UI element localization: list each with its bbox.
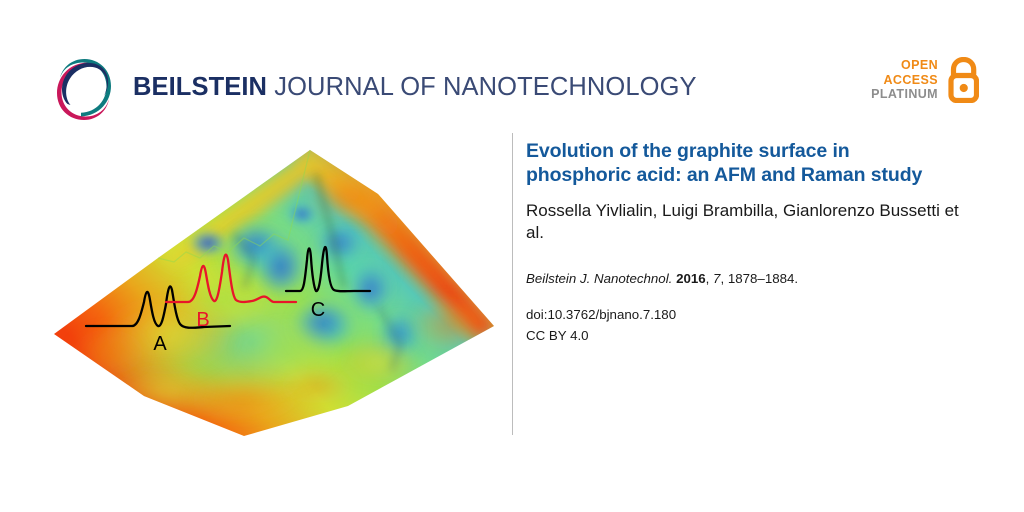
column-divider <box>512 133 513 435</box>
raman-spectrum-c-label: C <box>311 299 325 321</box>
afm-3d-surface-with-raman-spectra: A B C <box>48 138 500 438</box>
beilstein-spiral-logo-icon <box>55 56 117 122</box>
journal-wordmark: BEILSTEIN JOURNAL OF NANOTECHNOLOGY <box>133 75 697 103</box>
citation-year: 2016 <box>676 271 706 286</box>
journal-wordmark-bold: BEILSTEIN <box>133 73 267 101</box>
article-authors: Rossella Yivlialin, Luigi Brambilla, Gia… <box>526 200 960 244</box>
open-access-line-access: ACCESS <box>871 73 938 88</box>
open-access-line-platinum: PLATINUM <box>871 87 938 102</box>
raman-spectrum-b-label: B <box>196 309 209 331</box>
page-header: BEILSTEIN JOURNAL OF NANOTECHNOLOGY OPEN… <box>0 0 1024 132</box>
raman-spectrum-a-label: A <box>153 333 167 355</box>
journal-wordmark-light: JOURNAL OF NANOTECHNOLOGY <box>267 73 697 101</box>
citation-journal: Beilstein J. Nanotechnol. <box>526 271 672 286</box>
article-doi[interactable]: doi:10.3762/bjnano.7.180 <box>526 305 960 325</box>
journal-brand: BEILSTEIN JOURNAL OF NANOTECHNOLOGY <box>55 56 697 122</box>
open-access-badge: OPEN ACCESS PLATINUM <box>871 57 979 103</box>
open-lock-icon <box>945 57 979 103</box>
citation-pages: 1878–1884 <box>728 271 795 286</box>
open-access-label-stack: OPEN ACCESS PLATINUM <box>871 58 938 102</box>
article-title: Evolution of the graphite surface in pho… <box>526 140 960 188</box>
article-license[interactable]: CC BY 4.0 <box>526 326 960 346</box>
afm-surface-plane <box>54 148 496 436</box>
open-access-line-open: OPEN <box>871 58 938 73</box>
article-citation: Beilstein J. Nanotechnol. 2016, 7, 1878–… <box>526 270 960 289</box>
article-metadata: Evolution of the graphite surface in pho… <box>526 140 960 346</box>
